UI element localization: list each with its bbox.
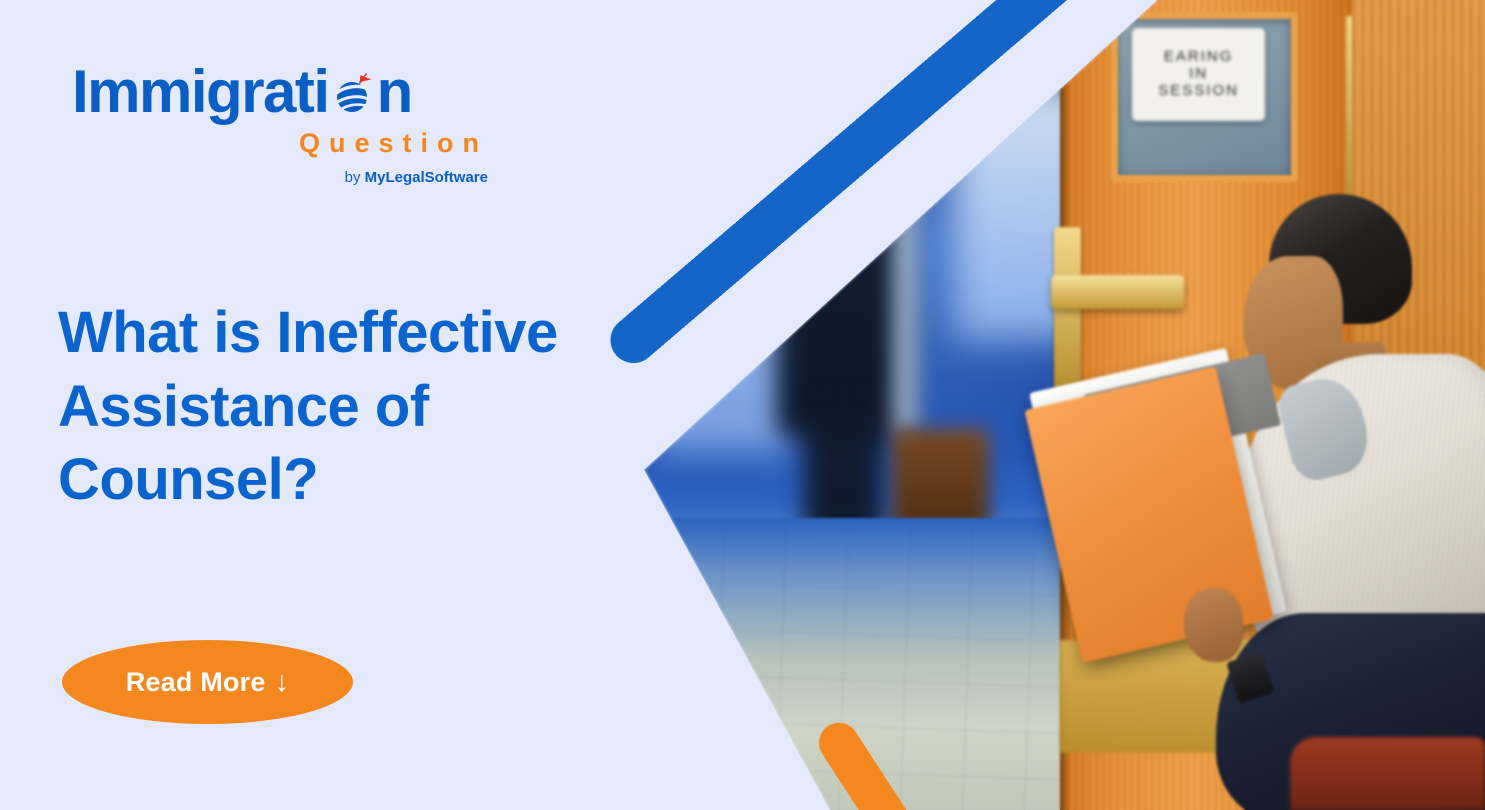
brand-logo[interactable]: Immigrati n Question by MyLegalSoftware	[72, 62, 492, 186]
read-more-button[interactable]: Read More ↓	[62, 640, 353, 724]
logo-wordmark-post: n	[377, 58, 412, 125]
sign-line-2: IN	[1189, 66, 1208, 82]
headline-line-1: What is Ineffective	[58, 300, 558, 365]
arrow-down-icon: ↓	[275, 666, 290, 699]
bench-arm	[1290, 737, 1485, 810]
hearing-in-session-sign: EARING IN SESSION	[1132, 28, 1264, 121]
logo-subtitle: Question	[72, 128, 492, 159]
logo-byline: by MyLegalSoftware	[72, 169, 492, 186]
sign-line-1: EARING	[1164, 49, 1234, 65]
seated-man	[972, 194, 1485, 810]
headline-line-3: Counsel?	[58, 447, 318, 512]
headline-line-2: Assistance of	[58, 374, 429, 439]
read-more-label: Read More	[126, 667, 266, 698]
logo-wordmark: Immigrati n	[72, 62, 492, 122]
byline-brand: MyLegalSoftware	[365, 169, 488, 186]
byline-prefix: by	[345, 169, 361, 186]
sign-line-3: SESSION	[1158, 83, 1239, 99]
globe-airplane-icon	[330, 71, 376, 117]
social-card: EARING IN SESSION	[0, 0, 1485, 810]
walking-figure-arm	[892, 162, 919, 437]
courtroom-photo: EARING IN SESSION	[600, 0, 1485, 810]
page-title: What is Ineffective Assistance of Counse…	[58, 296, 658, 517]
logo-wordmark-pre: Immigrati	[72, 58, 329, 125]
man-hand	[1184, 588, 1242, 662]
